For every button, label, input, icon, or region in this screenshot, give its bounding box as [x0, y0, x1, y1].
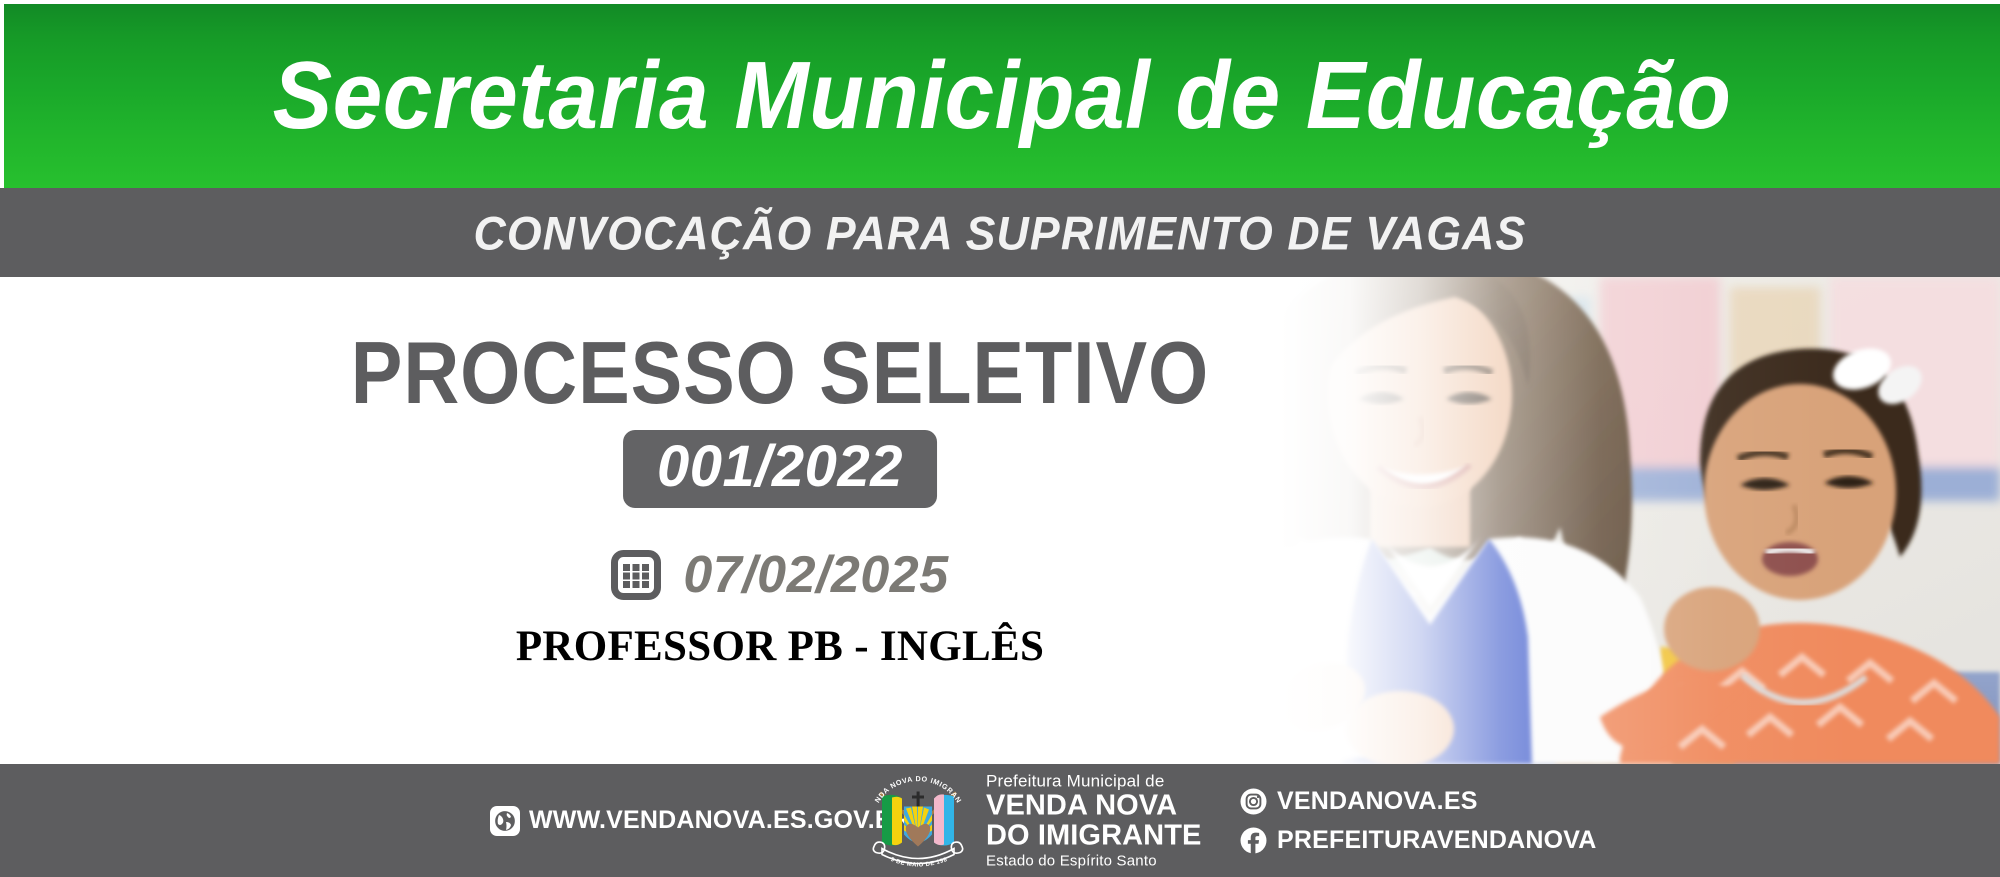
banner-subtitle: CONVOCAÇÃO PARA SUPRIMENTO DE VAGAS [50, 209, 1950, 256]
municipality-brand: VENDA NOVA DO IMIGRANTE 19 DE MAIO DE 19… [862, 768, 1201, 873]
process-title: PROCESSO SELETIVO [94, 329, 1467, 417]
date-row: 07/02/2025 [0, 549, 1560, 601]
brand-name-line2: DO IMIGRANTE [986, 821, 1201, 851]
header-green-band: Secretaria Municipal de Educação [4, 4, 2000, 188]
website-label: WWW.VENDANOVA.ES.GOV.BR [529, 806, 911, 835]
instagram-icon [1240, 788, 1267, 815]
role-title: PROFESSOR PB - INGLÊS [0, 625, 1560, 668]
brand-text-block: Prefeitura Municipal de VENDA NOVA DO IM… [986, 772, 1201, 868]
globe-icon-glyph [493, 809, 517, 833]
instagram-label: VENDANOVA.ES [1277, 787, 1478, 816]
calendar-icon [611, 550, 661, 600]
department-title: Secretaria Municipal de Educação [74, 48, 1930, 144]
process-number-badge: 001/2022 [623, 430, 937, 508]
brand-name-line1: VENDA NOVA [986, 791, 1201, 821]
website-block[interactable]: WWW.VENDANOVA.ES.GOV.BR [490, 806, 911, 836]
banner-body: PROCESSO SELETIVO 001/2022 [0, 277, 2000, 764]
event-date: 07/02/2025 [683, 549, 948, 601]
footer-bar: WWW.VENDANOVA.ES.GOV.BR [0, 764, 2000, 877]
main-text-stack: PROCESSO SELETIVO 001/2022 [0, 277, 1560, 764]
brand-state: Estado do Espírito Santo [986, 854, 1201, 869]
convocation-banner: Secretaria Municipal de Educação CONVOCA… [0, 0, 2000, 877]
facebook-label: PREFEITURAVENDANOVA [1277, 826, 1597, 855]
coat-of-arms-icon: VENDA NOVA DO IMIGRANTE 19 DE MAIO DE 19… [862, 768, 974, 873]
instagram-link[interactable]: VENDANOVA.ES [1240, 787, 1597, 816]
social-links: VENDANOVA.ES PREFEITURAVENDANOVA [1240, 787, 1597, 855]
header-gray-band: CONVOCAÇÃO PARA SUPRIMENTO DE VAGAS [0, 188, 2000, 277]
facebook-icon [1240, 827, 1267, 854]
brand-prefix: Prefeitura Municipal de [986, 772, 1201, 789]
globe-icon [490, 806, 520, 836]
facebook-link[interactable]: PREFEITURAVENDANOVA [1240, 826, 1597, 855]
